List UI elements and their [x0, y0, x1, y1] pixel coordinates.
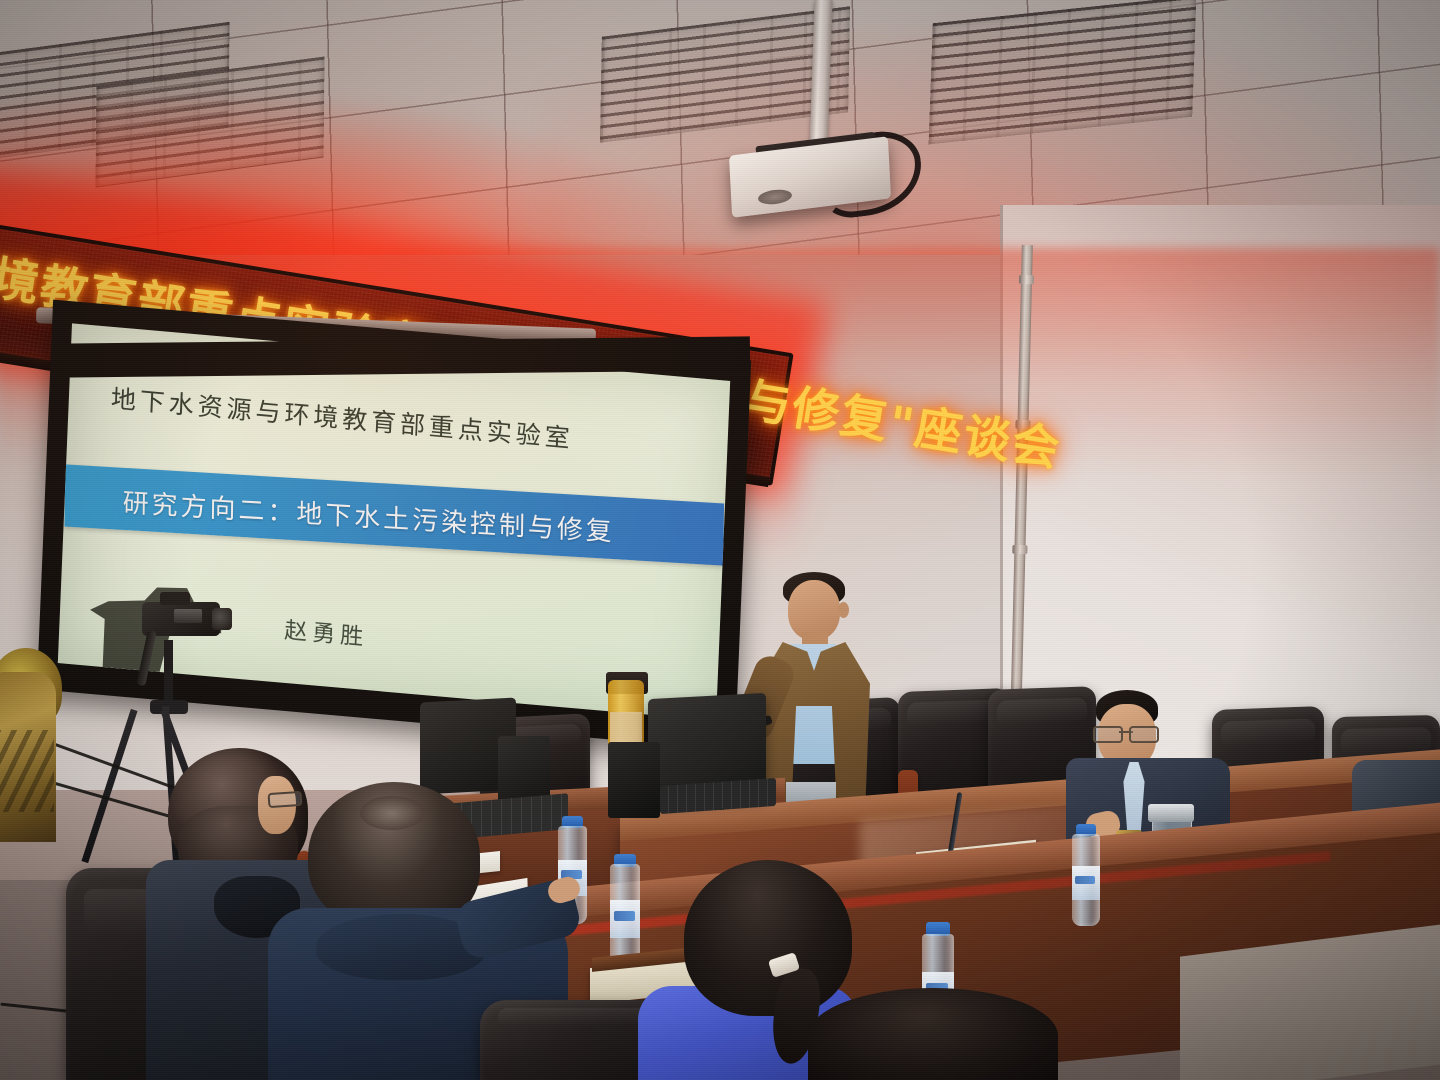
pipe-joint [1019, 275, 1034, 284]
video-camera [128, 592, 232, 644]
camera-screen [174, 609, 202, 623]
slide-author-text: 赵勇胜 [284, 611, 369, 652]
attendee-hair [808, 988, 1058, 1080]
tumbler-lid [1148, 804, 1194, 822]
camera-lens-icon [212, 608, 232, 630]
attendee-hair-highlight [360, 796, 424, 830]
screen-top-border [60, 336, 750, 377]
pipe-joint [1012, 545, 1027, 554]
projected-slide: 地下水资源与环境教育部重点实验室 研究方向二：地下水土污染控制与修复 赵勇胜 [58, 323, 730, 720]
presenter-ear [838, 602, 849, 618]
slide-header-text: 地下水资源与环境教育部重点实验室 [110, 379, 670, 464]
bottle-label [610, 712, 642, 746]
attendee-woman-foreground-right [808, 988, 1058, 1080]
desktop-speaker [608, 742, 660, 818]
eyeglasses-icon [1093, 726, 1159, 739]
vase-pattern [0, 730, 54, 812]
seminar-photograph: 源与环境教育部重点实验室"地下水土控制与修复"座谈会 地下水资源与环境教育部重点… [0, 0, 1440, 1080]
bottle-label [610, 900, 640, 938]
bottle-label [1072, 866, 1100, 900]
presenter-head [788, 580, 840, 640]
camera-handle [160, 592, 190, 605]
